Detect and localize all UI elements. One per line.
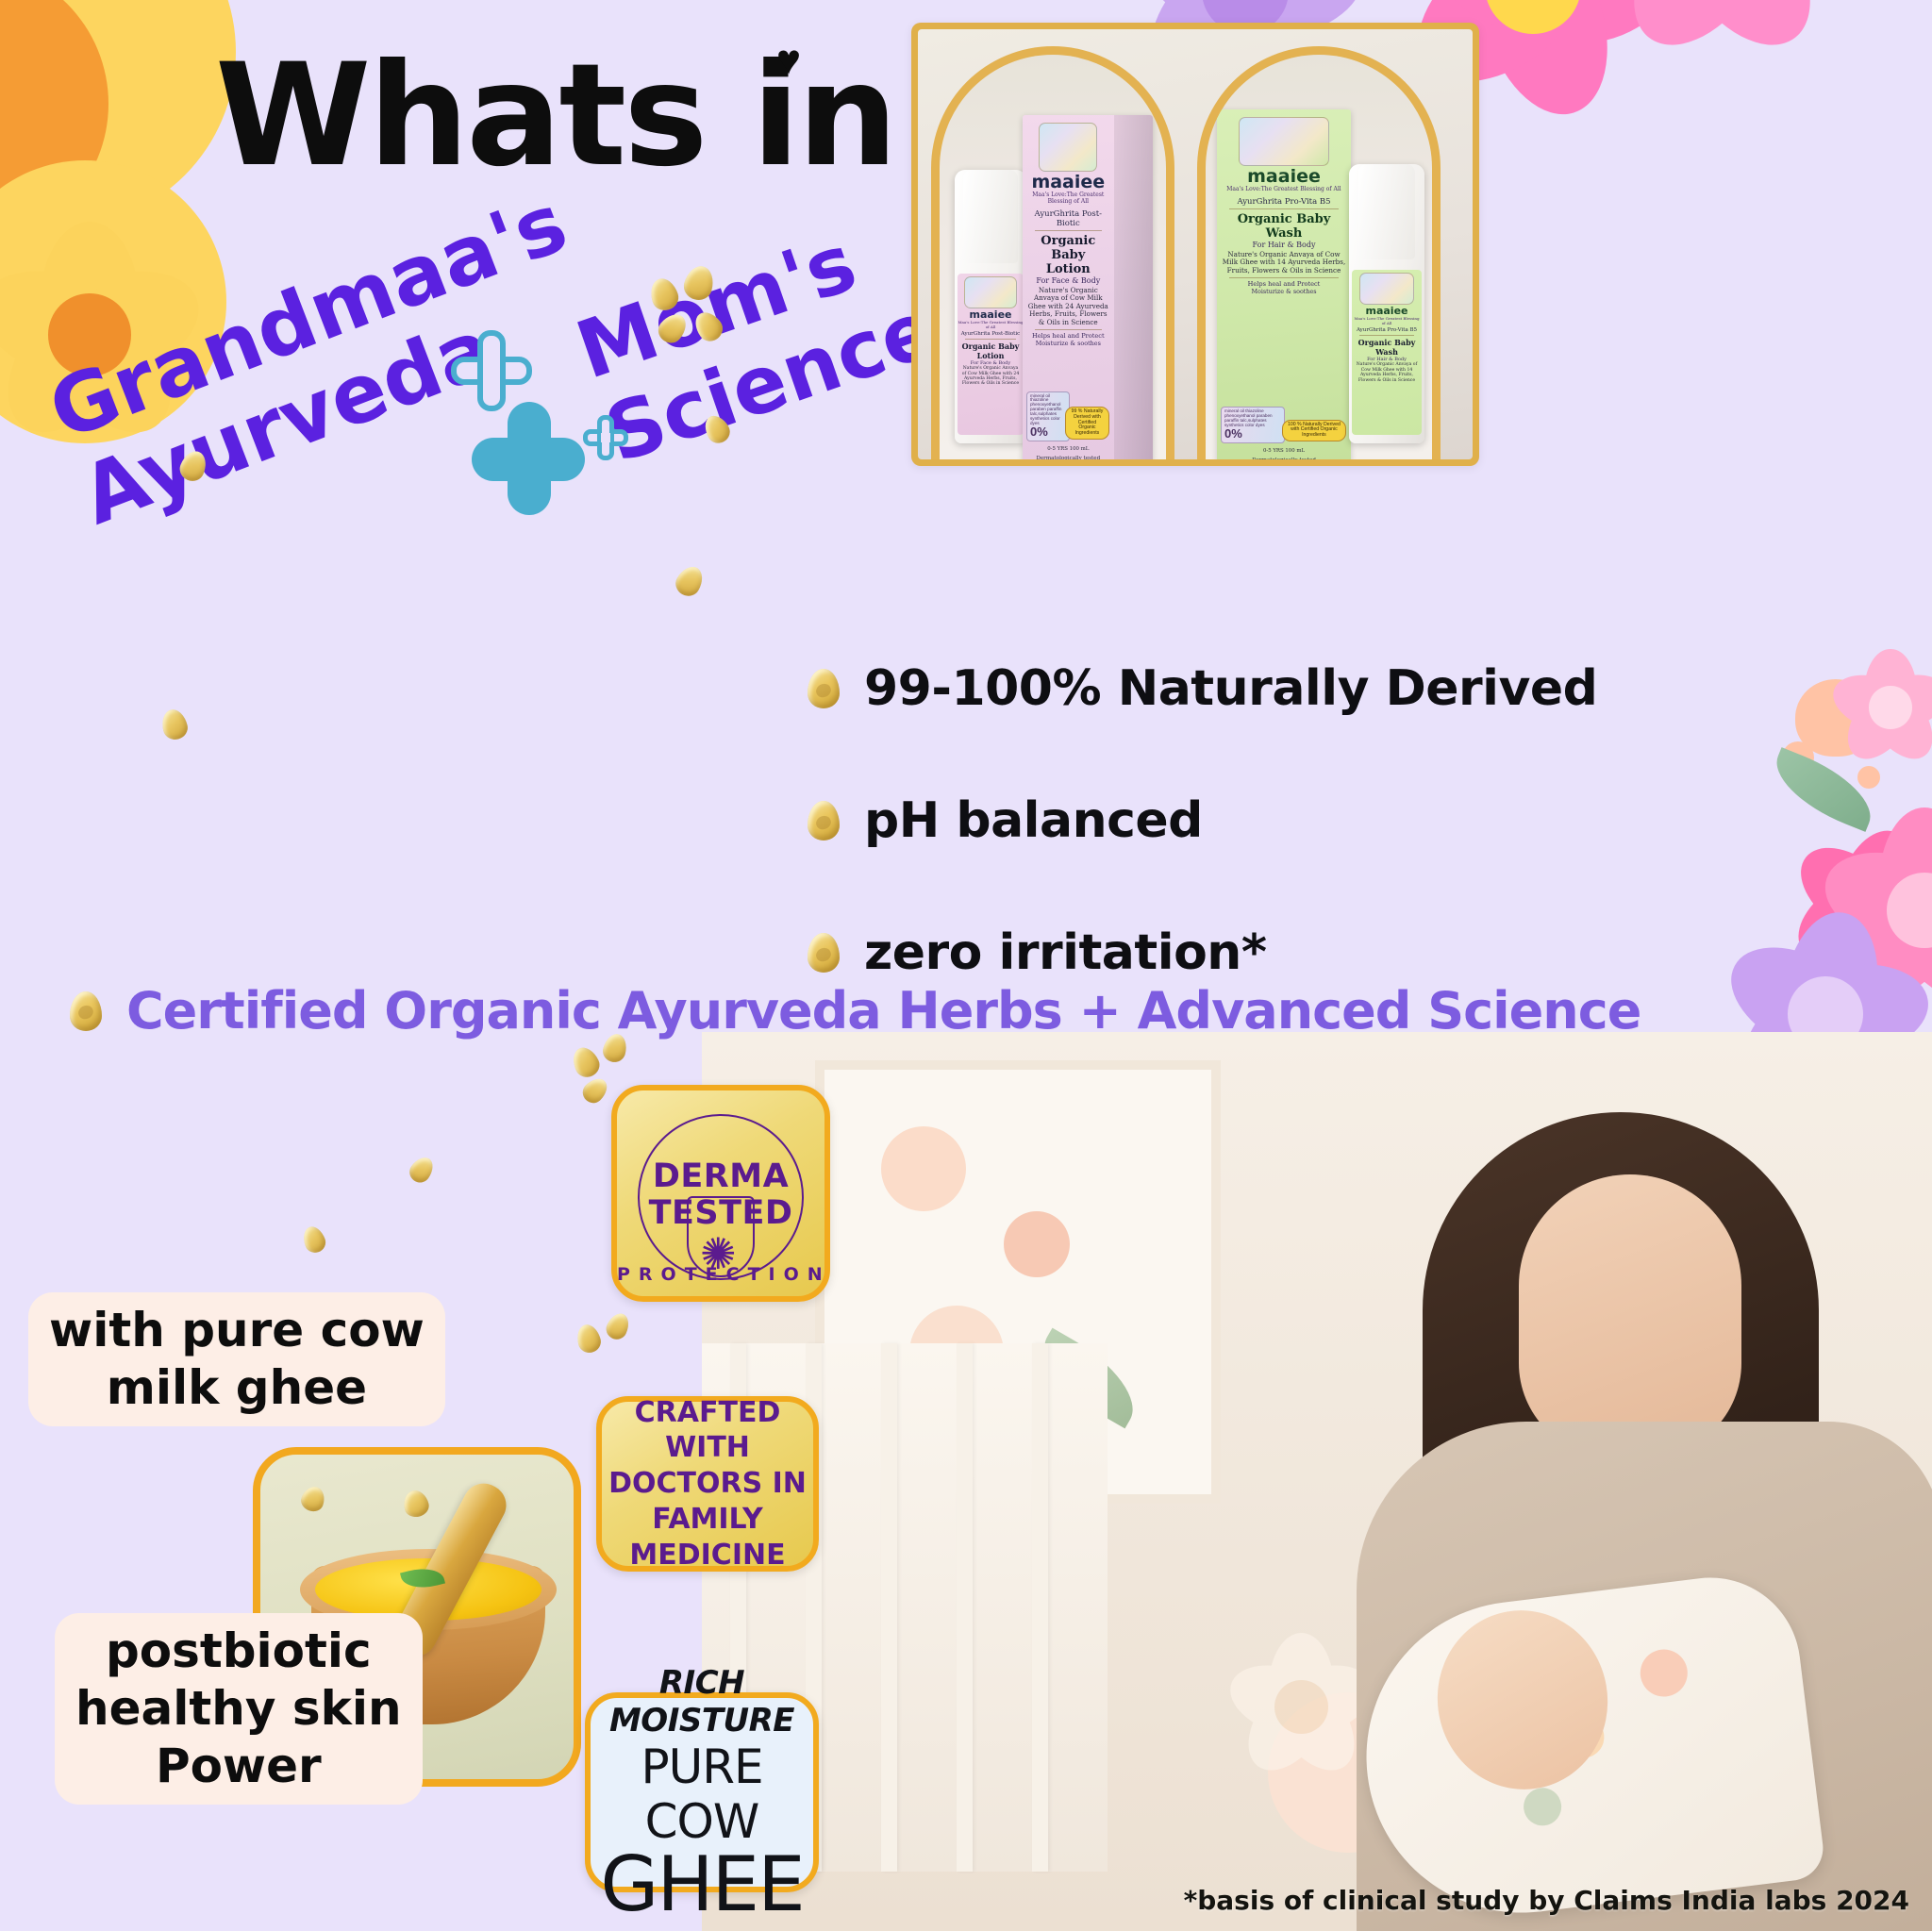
- decor-ghee-drop: [575, 1322, 604, 1355]
- box-seal-right: 100 % Naturally Derived with Certified O…: [1282, 420, 1346, 441]
- product-arch-right: maaiee Maa's Love:The Greatest Blessing …: [1197, 46, 1441, 459]
- derma-protection-label: PROTECTION: [617, 1264, 824, 1285]
- bottle-tagline-right: Maa's Love:The Greatest Blessing of All: [1352, 316, 1422, 325]
- badge-derma-tested: DERMA TESTED ✺ PROTECTION: [611, 1085, 830, 1302]
- box-usage-right: For Hair & Body: [1222, 241, 1346, 249]
- box-name-left: Organic Baby Lotion: [1027, 234, 1109, 276]
- box-tagline-right: Maa's Love:The Greatest Blessing of All: [1222, 186, 1346, 192]
- poster-canvas: Whats in ♥ Grandmaa's Ayurveda Mom's Sci…: [0, 0, 1932, 1931]
- box-benefit1-right: Helps heal and Protect: [1222, 280, 1346, 288]
- bottle-name-right: Organic Baby Wash: [1352, 338, 1422, 357]
- benefit-label: zero irritation*: [864, 924, 1267, 981]
- plus-icon-outline-large: [451, 330, 532, 411]
- box-usage-left: For Face & Body: [1027, 276, 1109, 285]
- product-box-lotion: maaiee Maa's Love:The Greatest Blessing …: [1023, 115, 1153, 459]
- product-bottle-wash: maaiee Maa's Love:The Greatest Blessing …: [1349, 164, 1424, 443]
- box-freefrom-value-right: 0%: [1224, 427, 1281, 441]
- box-desc-left: Nature's Organic Anvaya of Cow Milk Ghee…: [1027, 287, 1109, 326]
- plus-icon-group: [443, 330, 632, 519]
- box-name-right: Organic Baby Wash: [1222, 212, 1346, 241]
- callout-postbiotic-power: postbiotic healthy skin Power: [55, 1613, 423, 1805]
- box-benefit2-right: Moisturize & soothes: [1222, 288, 1346, 295]
- box-brand-left: maaiee: [1027, 174, 1109, 191]
- box-line-left: AyurGhrita Post-Biotic: [1027, 209, 1109, 228]
- photo-mother: [1243, 1082, 1932, 1931]
- ghee-badge-line-1: RICH MOISTURE: [591, 1664, 813, 1740]
- decor-ghee-drop: [578, 1074, 611, 1107]
- bottle-name-left: Organic Baby Lotion: [958, 341, 1024, 360]
- plus-icon-outline-small: [583, 415, 628, 460]
- mother-face: [1519, 1174, 1741, 1457]
- box-benefit1-left: Helps heal and Protect: [1027, 332, 1109, 340]
- box-benefit2-left: Moisturize & soothes: [1027, 340, 1109, 347]
- box-freefrom-left: mineral oil thiazoline phenoxyethanol pa…: [1026, 391, 1070, 441]
- ghee-drop-icon: [808, 669, 840, 708]
- box-tagline-left: Maa's Love:The Greatest Blessing of All: [1027, 191, 1109, 205]
- product-bottle-lotion: maaiee Maa's Love:The Greatest Blessing …: [955, 170, 1026, 443]
- page-title: Whats in ♥: [215, 45, 895, 187]
- badge-crafted-with-doctors: CRAFTED WITH DOCTORS IN FAMILY MEDICINE: [596, 1396, 819, 1572]
- ghee-badge-line-2: PURE COW: [591, 1740, 813, 1849]
- ghee-drop-icon: [70, 991, 102, 1031]
- decor-daisy-pink-2: [1604, 0, 1840, 57]
- box-desc-right: Nature's Organic Anvaya of Cow Milk Ghee…: [1222, 251, 1346, 275]
- box-freefrom-list-right: mineral oil thiazoline phenoxyethanol pa…: [1224, 409, 1281, 427]
- bottle-line-left: AyurGhrita Post-Biotic: [958, 331, 1024, 337]
- box-tested-right: Dermatologically tested: [1217, 458, 1351, 459]
- box-freefrom-value-left: 0%: [1030, 425, 1066, 439]
- box-tested-left: Dermatologically tested: [1023, 456, 1114, 459]
- product-arch-left: maaiee Maa's Love:The Greatest Blessing …: [931, 46, 1174, 459]
- decor-ghee-drop: [300, 1224, 328, 1256]
- benefit-item: pH balanced: [808, 792, 1864, 849]
- decor-ghee-drop: [568, 1043, 603, 1081]
- callout-pure-cow-milk-ghee: with pure cow milk ghee: [28, 1292, 445, 1426]
- box-line-right: AyurGhrita Pro-Vita B5: [1222, 197, 1346, 207]
- box-seal-left: 99 % Naturally Derived with Certified Or…: [1065, 407, 1108, 440]
- crafted-label: CRAFTED WITH DOCTORS IN FAMILY MEDICINE: [602, 1395, 813, 1573]
- footnote: *basis of clinical study by Claims India…: [1184, 1885, 1909, 1916]
- ghee-drop-icon: [808, 801, 840, 841]
- bottle-brand-right: maaiee: [1352, 306, 1422, 316]
- box-freefrom-list-left: mineral oil thiazoline phenoxyethanol pa…: [1030, 394, 1066, 426]
- bottle-desc-left: Nature's Organic Anvaya of Cow Milk Ghee…: [958, 366, 1024, 387]
- decor-ghee-drop: [159, 707, 191, 741]
- box-freefrom-right: mineral oil thiazoline phenoxyethanol pa…: [1221, 407, 1285, 443]
- box-agevol-left: 0-5 YRS 100 mL: [1023, 446, 1114, 452]
- box-agevol-right: 0-5 YRS 100 mL: [1217, 448, 1351, 454]
- bottle-tagline-left: Maa's Love:The Greatest Blessing of All: [958, 320, 1024, 329]
- decor-ghee-drop: [672, 562, 708, 601]
- ghee-badge-line-3: GHEE: [600, 1849, 803, 1921]
- heart-icon: ♥: [776, 40, 808, 68]
- bottle-desc-right: Nature's Organic Anvaya of Cow Milk Ghee…: [1352, 362, 1422, 383]
- product-box-wash: maaiee Maa's Love:The Greatest Blessing …: [1217, 109, 1351, 459]
- ghee-drop-icon: [808, 933, 840, 973]
- decor-ghee-drop: [406, 1153, 438, 1187]
- derma-line-2: TESTED: [649, 1197, 793, 1230]
- benefit-item: zero irritation*: [808, 924, 1864, 981]
- decor-ghee-drop: [603, 1310, 633, 1343]
- product-photo-frame: maaiee Maa's Love:The Greatest Blessing …: [911, 23, 1479, 466]
- product-photo: maaiee Maa's Love:The Greatest Blessing …: [918, 29, 1473, 459]
- derma-line-1: DERMA: [653, 1160, 789, 1193]
- box-brand-right: maaiee: [1222, 168, 1346, 186]
- bottle-line-right: AyurGhrita Pro-Vita B5: [1352, 327, 1422, 333]
- bottle-brand-left: maaiee: [958, 309, 1024, 320]
- benefit-label: 99-100% Naturally Derived: [864, 660, 1597, 717]
- plus-icon-solid: [472, 402, 585, 515]
- badge-pure-cow-ghee: RICH MOISTURE PURE COW GHEE: [585, 1692, 819, 1892]
- benefit-item: 99-100% Naturally Derived: [808, 660, 1864, 717]
- lifestyle-photo: *basis of clinical study by Claims India…: [702, 1032, 1932, 1931]
- benefit-label: pH balanced: [864, 792, 1203, 849]
